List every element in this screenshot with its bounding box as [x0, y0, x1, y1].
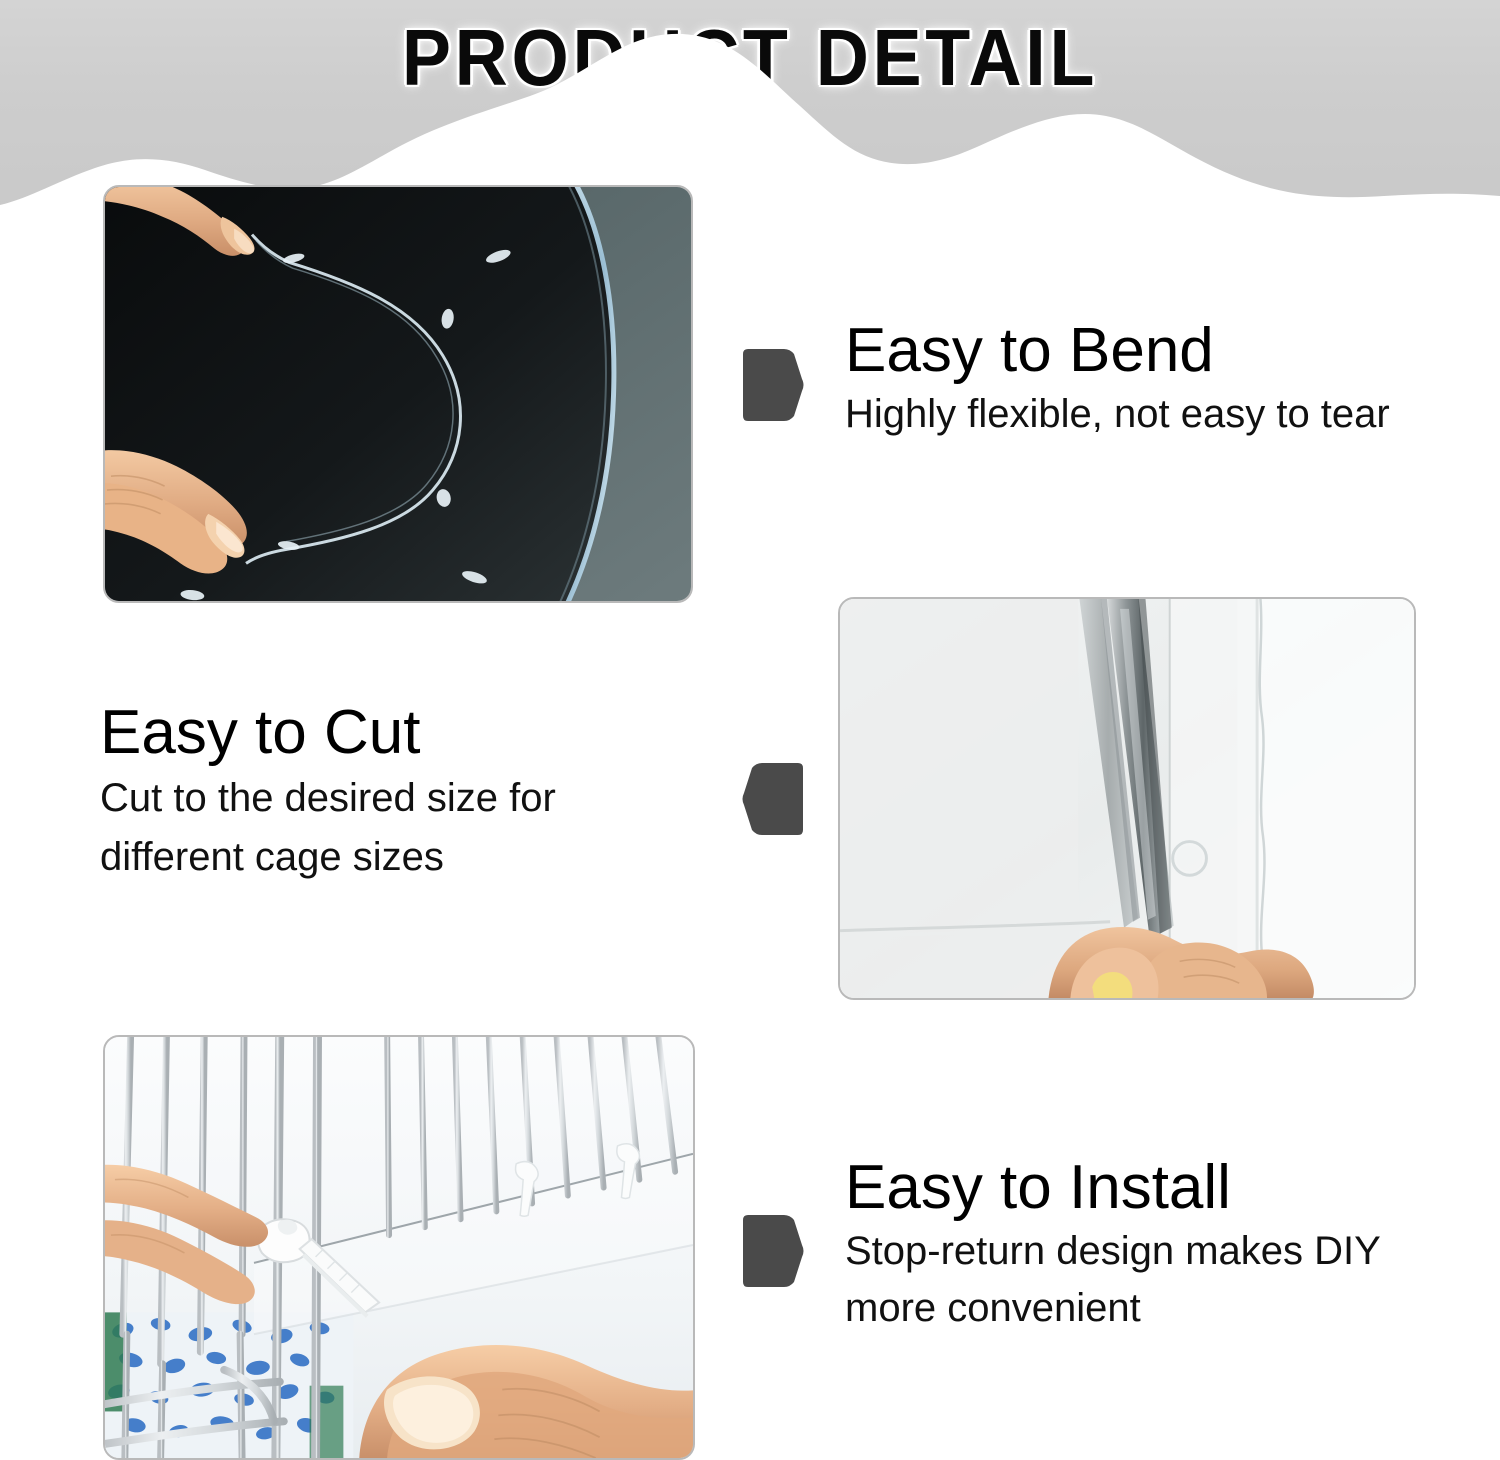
- content-area: Easy to Bend Highly flexible, not easy t…: [0, 0, 1500, 1460]
- feature-image-install: [103, 1035, 695, 1460]
- feature-text-bend: Easy to Bend Highly flexible, not easy t…: [845, 318, 1485, 440]
- feature-text-cut: Easy to Cut Cut to the desired size for …: [100, 700, 720, 883]
- arrow-pointer-cut: [740, 760, 806, 838]
- feature-subtext-cut-line-1: Cut to the desired size for: [100, 773, 720, 824]
- arrow-left-icon: [740, 760, 806, 838]
- feature-subtext-bend-line-1: Highly flexible, not easy to tear: [845, 389, 1485, 440]
- arrow-pointer-bend: [740, 346, 806, 424]
- scissors-cutting-clear-sheet-illustration: [840, 599, 1414, 998]
- arrow-pointer-install: [740, 1212, 806, 1290]
- feature-headline-bend: Easy to Bend: [845, 318, 1485, 383]
- feature-image-cut: [838, 597, 1416, 1000]
- hands-bending-clear-acrylic-sheet-illustration: [105, 187, 691, 601]
- feature-subtext-cut-line-2: different cage sizes: [100, 832, 720, 883]
- arrow-right-icon: [740, 346, 806, 424]
- hands-installing-zip-tie-on-birdcage-illustration: [105, 1037, 693, 1458]
- feature-text-install: Easy to Install Stop-return design makes…: [845, 1155, 1465, 1334]
- feature-image-bend: [103, 185, 693, 603]
- feature-headline-install: Easy to Install: [845, 1155, 1465, 1220]
- feature-subtext-install-line-1: Stop-return design makes DIY: [845, 1226, 1465, 1277]
- feature-headline-cut: Easy to Cut: [100, 700, 720, 765]
- feature-subtext-install-line-2: more convenient: [845, 1283, 1465, 1334]
- arrow-right-icon: [740, 1212, 806, 1290]
